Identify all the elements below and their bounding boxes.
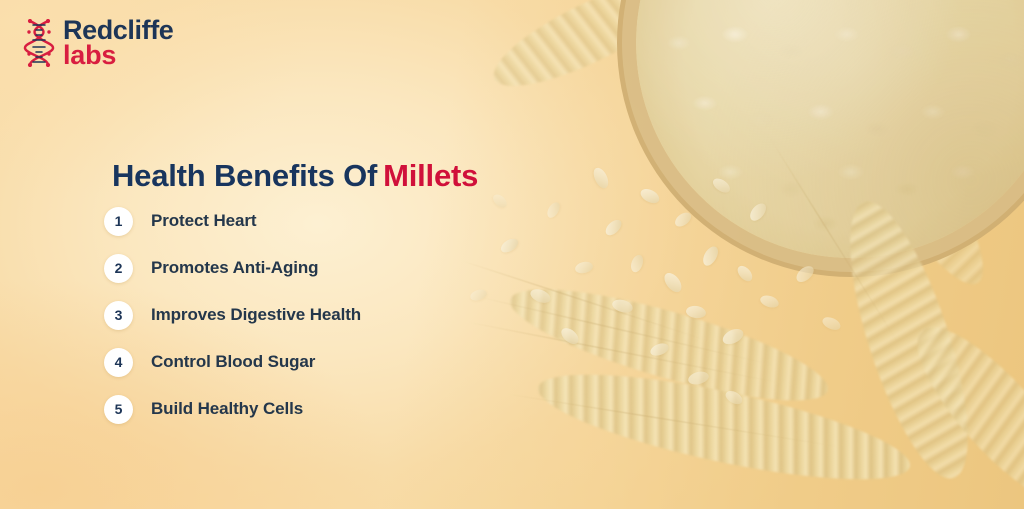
logo-wordmark: Redcliffe labs bbox=[63, 18, 173, 68]
title-lead-text: Health Benefits Of bbox=[112, 158, 377, 193]
logo-line-two: labs bbox=[63, 43, 173, 68]
benefit-label: Protect Heart bbox=[151, 211, 256, 231]
wooden-bowl-of-grains-icon bbox=[636, 0, 1024, 258]
title-accent-text: Millets bbox=[383, 158, 478, 193]
redcliffe-labs-logo[interactable]: Redcliffe labs bbox=[22, 18, 173, 68]
grain-photo-layer bbox=[464, 0, 1024, 509]
benefit-number-badge: 1 bbox=[104, 207, 133, 236]
benefits-list: 1 Protect Heart 2 Promotes Anti-Aging 3 … bbox=[104, 204, 361, 426]
benefit-label: Build Healthy Cells bbox=[151, 399, 303, 419]
list-item: 4 Control Blood Sugar bbox=[104, 345, 361, 379]
page-title: Health Benefits OfMillets bbox=[112, 158, 478, 194]
list-item: 1 Protect Heart bbox=[104, 204, 361, 238]
benefit-number-badge: 3 bbox=[104, 301, 133, 330]
benefit-number-badge: 5 bbox=[104, 395, 133, 424]
list-item: 3 Improves Digestive Health bbox=[104, 298, 361, 332]
benefit-label: Improves Digestive Health bbox=[151, 305, 361, 325]
dna-helix-icon bbox=[22, 19, 56, 67]
list-item: 5 Build Healthy Cells bbox=[104, 392, 361, 426]
benefit-label: Control Blood Sugar bbox=[151, 352, 315, 372]
benefit-number-badge: 2 bbox=[104, 254, 133, 283]
benefit-number-badge: 4 bbox=[104, 348, 133, 377]
millets-benefits-banner: Redcliffe labs Health Benefits OfMillets… bbox=[0, 0, 1024, 509]
benefit-label: Promotes Anti-Aging bbox=[151, 258, 318, 278]
list-item: 2 Promotes Anti-Aging bbox=[104, 251, 361, 285]
bowl-shading bbox=[636, 0, 1024, 258]
